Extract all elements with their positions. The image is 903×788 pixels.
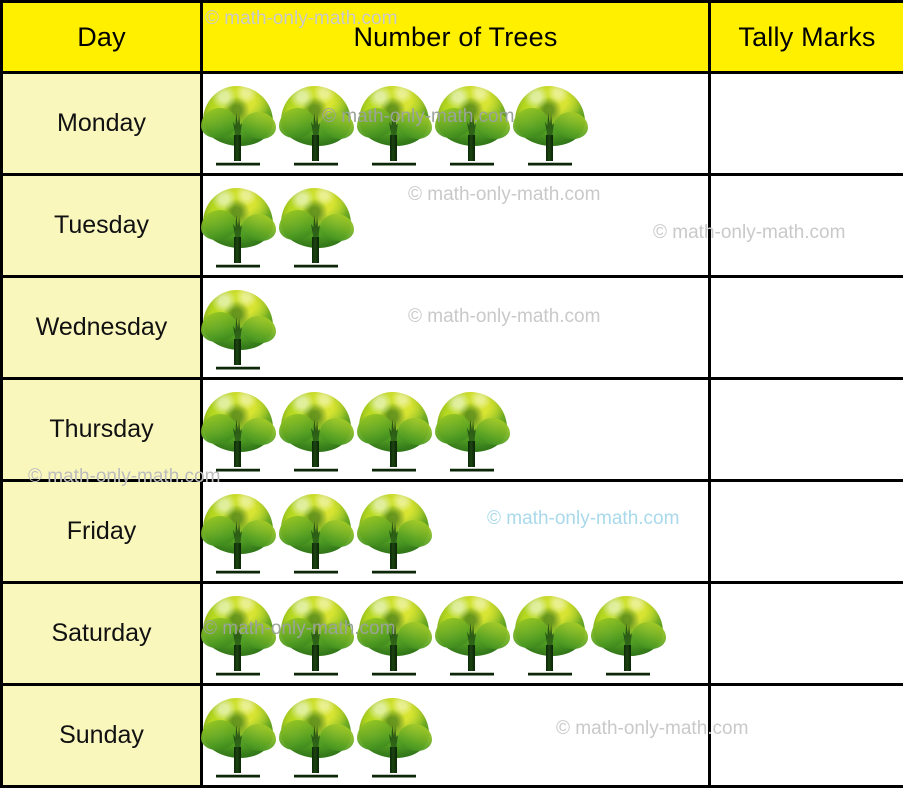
pictograph-table: Day Number of Trees Tally Marks MondayTu… — [0, 0, 903, 788]
tree-icon — [359, 596, 429, 676]
tree-icon — [359, 698, 429, 778]
tree-icon — [203, 86, 273, 166]
table-row: Sunday — [2, 685, 903, 787]
tree-trunk — [546, 135, 553, 161]
tally-cell[interactable] — [710, 277, 903, 379]
table-header-row: Day Number of Trees Tally Marks — [2, 2, 903, 73]
tree-trunk — [312, 135, 319, 161]
day-cell: Wednesday — [2, 277, 202, 379]
tally-cell[interactable] — [710, 583, 903, 685]
tree-icon — [359, 392, 429, 472]
tree-icon — [203, 698, 273, 778]
tree-group — [203, 490, 708, 574]
day-label: Saturday — [51, 619, 151, 647]
tree-group — [203, 286, 708, 370]
table-row: Friday — [2, 481, 903, 583]
trees-cell — [202, 379, 710, 481]
tree-group — [203, 694, 708, 778]
day-label: Tuesday — [54, 211, 149, 239]
day-cell: Tuesday — [2, 175, 202, 277]
table-row: Thursday — [2, 379, 903, 481]
tree-trunk — [390, 543, 397, 569]
day-cell: Saturday — [2, 583, 202, 685]
tree-trunk — [390, 747, 397, 773]
table-body: MondayTuesdayWednesdayThursdayFridaySatu… — [2, 73, 903, 787]
tree-trunk — [234, 135, 241, 161]
tree-trunk — [390, 645, 397, 671]
trees-cell — [202, 481, 710, 583]
tree-trunk — [468, 645, 475, 671]
tree-group — [203, 592, 708, 676]
header-day: Day — [2, 2, 202, 73]
table-row: Saturday — [2, 583, 903, 685]
tally-cell[interactable] — [710, 481, 903, 583]
tree-icon — [359, 494, 429, 574]
tree-icon — [281, 698, 351, 778]
tally-cell[interactable] — [710, 685, 903, 787]
tree-trunk — [546, 645, 553, 671]
tree-trunk — [390, 135, 397, 161]
day-label: Friday — [67, 517, 136, 545]
day-label: Thursday — [49, 415, 153, 443]
day-label: Sunday — [59, 721, 144, 749]
tree-trunk — [312, 645, 319, 671]
tree-trunk — [312, 747, 319, 773]
trees-cell — [202, 175, 710, 277]
tree-trunk — [234, 747, 241, 773]
header-tally-marks: Tally Marks — [710, 2, 903, 73]
tree-icon — [203, 392, 273, 472]
tree-icon — [437, 86, 507, 166]
trees-cell — [202, 583, 710, 685]
tree-trunk — [468, 135, 475, 161]
tree-icon — [515, 596, 585, 676]
tree-icon — [593, 596, 663, 676]
tree-trunk — [468, 441, 475, 467]
tree-icon — [281, 494, 351, 574]
trees-cell — [202, 73, 710, 175]
tree-icon — [281, 86, 351, 166]
tally-cell[interactable] — [710, 73, 903, 175]
tally-cell[interactable] — [710, 379, 903, 481]
tree-icon — [203, 188, 273, 268]
day-cell: Sunday — [2, 685, 202, 787]
tree-icon — [437, 392, 507, 472]
tree-icon — [203, 596, 273, 676]
tree-trunk — [234, 543, 241, 569]
tree-trunk — [312, 543, 319, 569]
tree-group — [203, 82, 708, 166]
tree-icon — [437, 596, 507, 676]
trees-cell — [202, 277, 710, 379]
tree-trunk — [234, 441, 241, 467]
tree-group — [203, 388, 708, 472]
tree-trunk — [312, 237, 319, 263]
table-row: Monday — [2, 73, 903, 175]
tree-icon — [359, 86, 429, 166]
tree-icon — [281, 596, 351, 676]
tally-cell[interactable] — [710, 175, 903, 277]
tree-trunk — [312, 441, 319, 467]
table-row: Tuesday — [2, 175, 903, 277]
tree-trunk — [624, 645, 631, 671]
tree-icon — [281, 188, 351, 268]
tree-icon — [203, 494, 273, 574]
tree-icon — [281, 392, 351, 472]
tree-icon — [203, 290, 273, 370]
tree-trunk — [234, 339, 241, 365]
tree-group — [203, 184, 708, 268]
trees-cell — [202, 685, 710, 787]
day-cell: Friday — [2, 481, 202, 583]
tree-trunk — [234, 645, 241, 671]
tree-trunk — [234, 237, 241, 263]
day-cell: Thursday — [2, 379, 202, 481]
header-number-of-trees: Number of Trees — [202, 2, 710, 73]
day-cell: Monday — [2, 73, 202, 175]
table-row: Wednesday — [2, 277, 903, 379]
tree-icon — [515, 86, 585, 166]
day-label: Wednesday — [36, 313, 168, 341]
day-label: Monday — [57, 109, 146, 137]
tree-trunk — [390, 441, 397, 467]
